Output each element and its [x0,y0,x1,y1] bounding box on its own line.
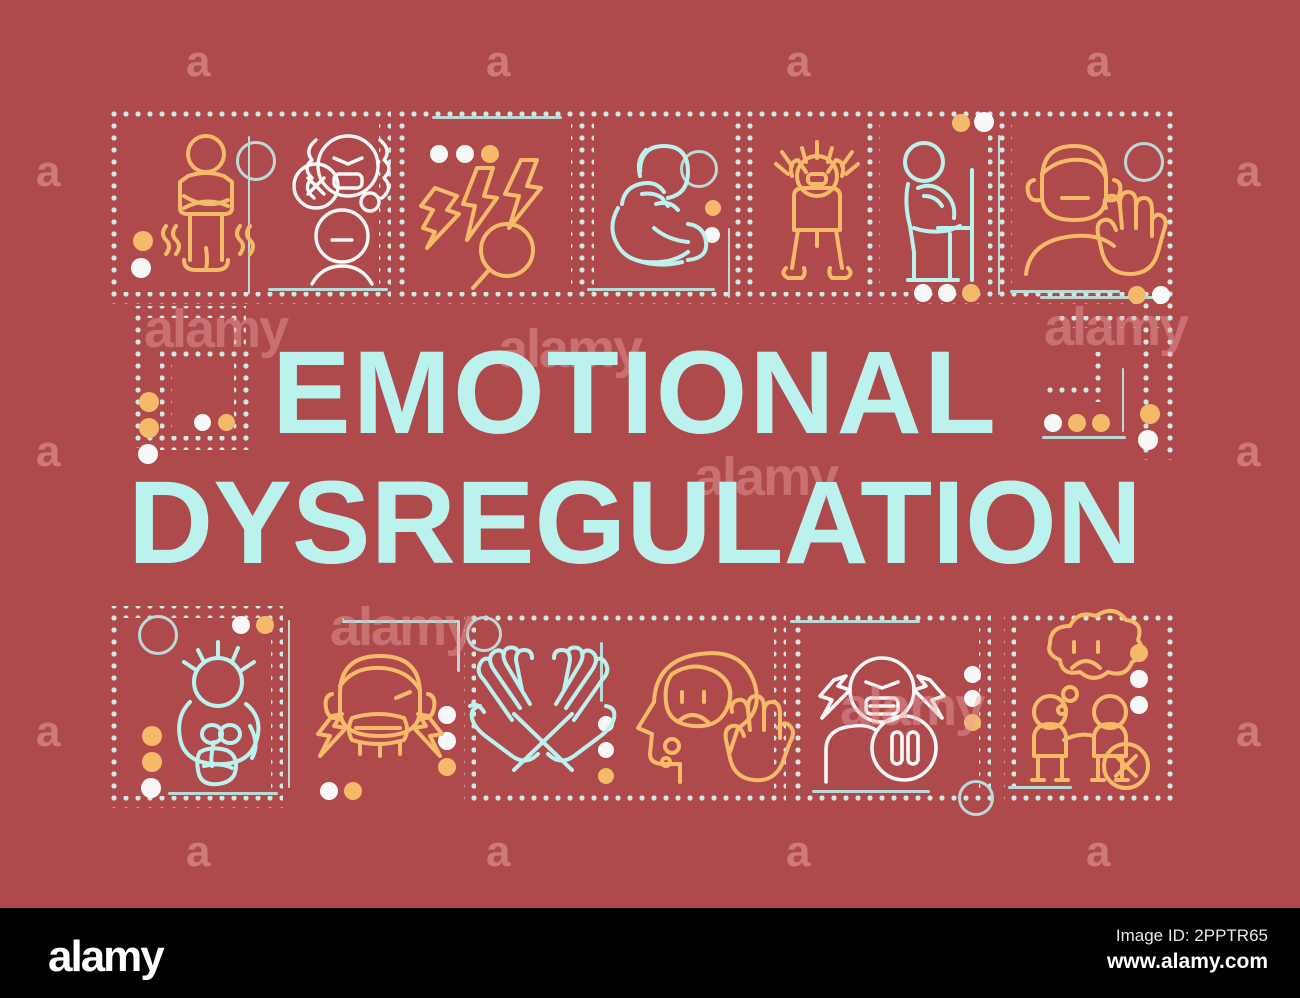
divider-line [790,620,920,623]
accent-dot [964,666,981,683]
divider-line [1122,368,1124,432]
accent-dot [256,616,274,634]
accent-ring [466,616,502,652]
shouting-face-lightning-icon [312,640,452,785]
accent-dot [1138,430,1158,450]
word-concept-banner: EMOTIONAL DYSREGULATION a a a a a a alam… [0,0,1300,998]
divider-line [168,792,278,795]
accent-dot [1140,404,1160,424]
crying-baby-icon [170,640,290,790]
accent-dot [1044,414,1062,432]
person-crossed-arms-trembling-icon [150,130,280,290]
page-title-line-2: DYSREGULATION [128,464,1142,582]
person-stop-hand-icon [1020,134,1160,292]
accent-dot [952,114,970,132]
accent-dot [141,778,161,798]
accent-dot [1092,414,1110,432]
angry-face-pause-icon [812,640,962,792]
image-id-label: Image ID: 2PPTR65 [1116,926,1268,946]
head-sad-thought-stop-hand-icon [620,640,780,792]
page-title-line-1: EMOTIONAL [272,334,998,452]
accent-dot [1068,414,1086,432]
accent-dot [194,414,211,431]
person-arms-raised-shouting-icon [762,132,872,292]
divider-line [457,620,460,672]
website-label: www.alamy.com [1107,950,1268,974]
accent-dot [142,726,162,746]
accent-dot [131,258,151,278]
accent-dot [142,752,162,772]
accent-dot [218,414,235,431]
alamy-footer-bar: alamy Image ID: 2PPTR65 www.alamy.com [0,908,1300,998]
accent-ring [958,780,994,816]
accent-dot [139,418,159,438]
person-sitting-chair-distressed-icon [888,132,1008,294]
divider-line [1042,436,1126,439]
alamy-logo: alamy [48,932,163,982]
artwork-area: EMOTIONAL DYSREGULATION a a a a a a alam… [0,0,1300,908]
accent-dot [139,392,159,412]
two-people-conflict-icon [1022,620,1162,790]
accent-dot [964,714,981,731]
accent-dot [974,112,994,132]
lightning-bolts-magnifier-icon [415,150,565,290]
divider-line [432,116,562,119]
accent-dot [964,690,981,707]
angry-face-blocked-icon [272,128,412,293]
accent-dot [232,616,250,634]
person-curled-up-icon [598,132,733,292]
divider-line [342,620,460,623]
crossed-hands-refusal-icon [478,648,608,788]
